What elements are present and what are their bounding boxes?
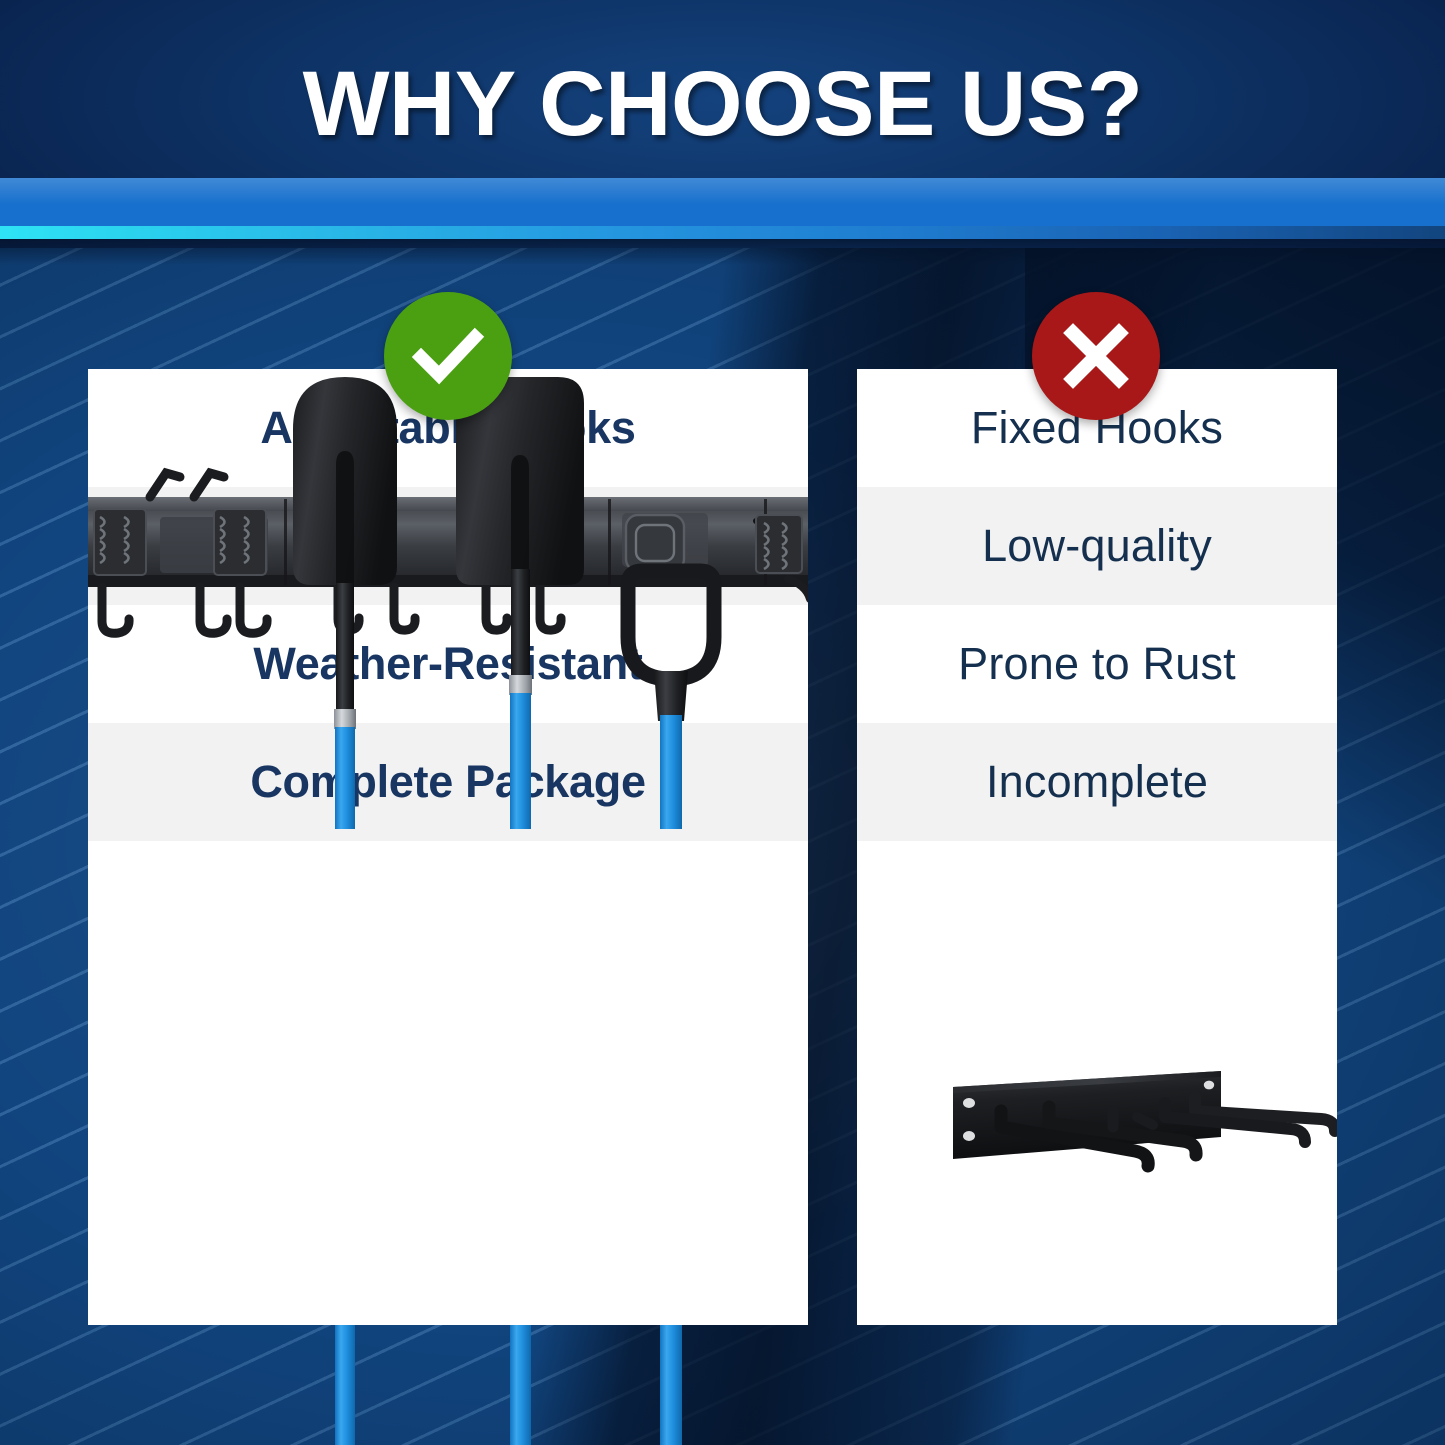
x-icon bbox=[1059, 319, 1133, 393]
con-row-4: Incomplete bbox=[857, 723, 1337, 841]
d-handle-tool bbox=[628, 571, 714, 829]
pro-check-badge bbox=[384, 292, 512, 420]
lower-hook-group bbox=[102, 579, 808, 633]
con-row-4-label: Incomplete bbox=[986, 756, 1208, 808]
pro-product-handles-overflow bbox=[88, 1325, 808, 1445]
con-row-3: Prone to Rust bbox=[857, 605, 1337, 723]
upper-hook-group bbox=[150, 473, 224, 497]
header-cyan-line bbox=[0, 226, 1445, 239]
pro-product-image bbox=[88, 369, 808, 829]
infographic-canvas: WHY CHOOSE US? Adjustable Hooks Heavy-Du… bbox=[0, 0, 1445, 1445]
con-row-2: Low-quality bbox=[857, 487, 1337, 605]
square-shovel bbox=[456, 377, 584, 829]
con-row-3-label: Prone to Rust bbox=[958, 638, 1236, 690]
con-row-list: Fixed Hooks Low-quality Prone to Rust In… bbox=[857, 369, 1337, 841]
con-x-badge bbox=[1032, 292, 1160, 420]
round-point-shovel bbox=[293, 377, 397, 829]
header-accent-band bbox=[0, 178, 1445, 226]
con-comparison-card: Fixed Hooks Low-quality Prone to Rust In… bbox=[857, 369, 1337, 1325]
header-drop-shadow bbox=[0, 239, 1445, 265]
check-icon bbox=[409, 317, 487, 395]
page-title: WHY CHOOSE US? bbox=[0, 52, 1445, 157]
con-product-image bbox=[891, 1041, 1337, 1241]
pro-comparison-card: Adjustable Hooks Heavy-Duty Durability W… bbox=[88, 369, 808, 1325]
con-row-2-label: Low-quality bbox=[982, 520, 1212, 572]
